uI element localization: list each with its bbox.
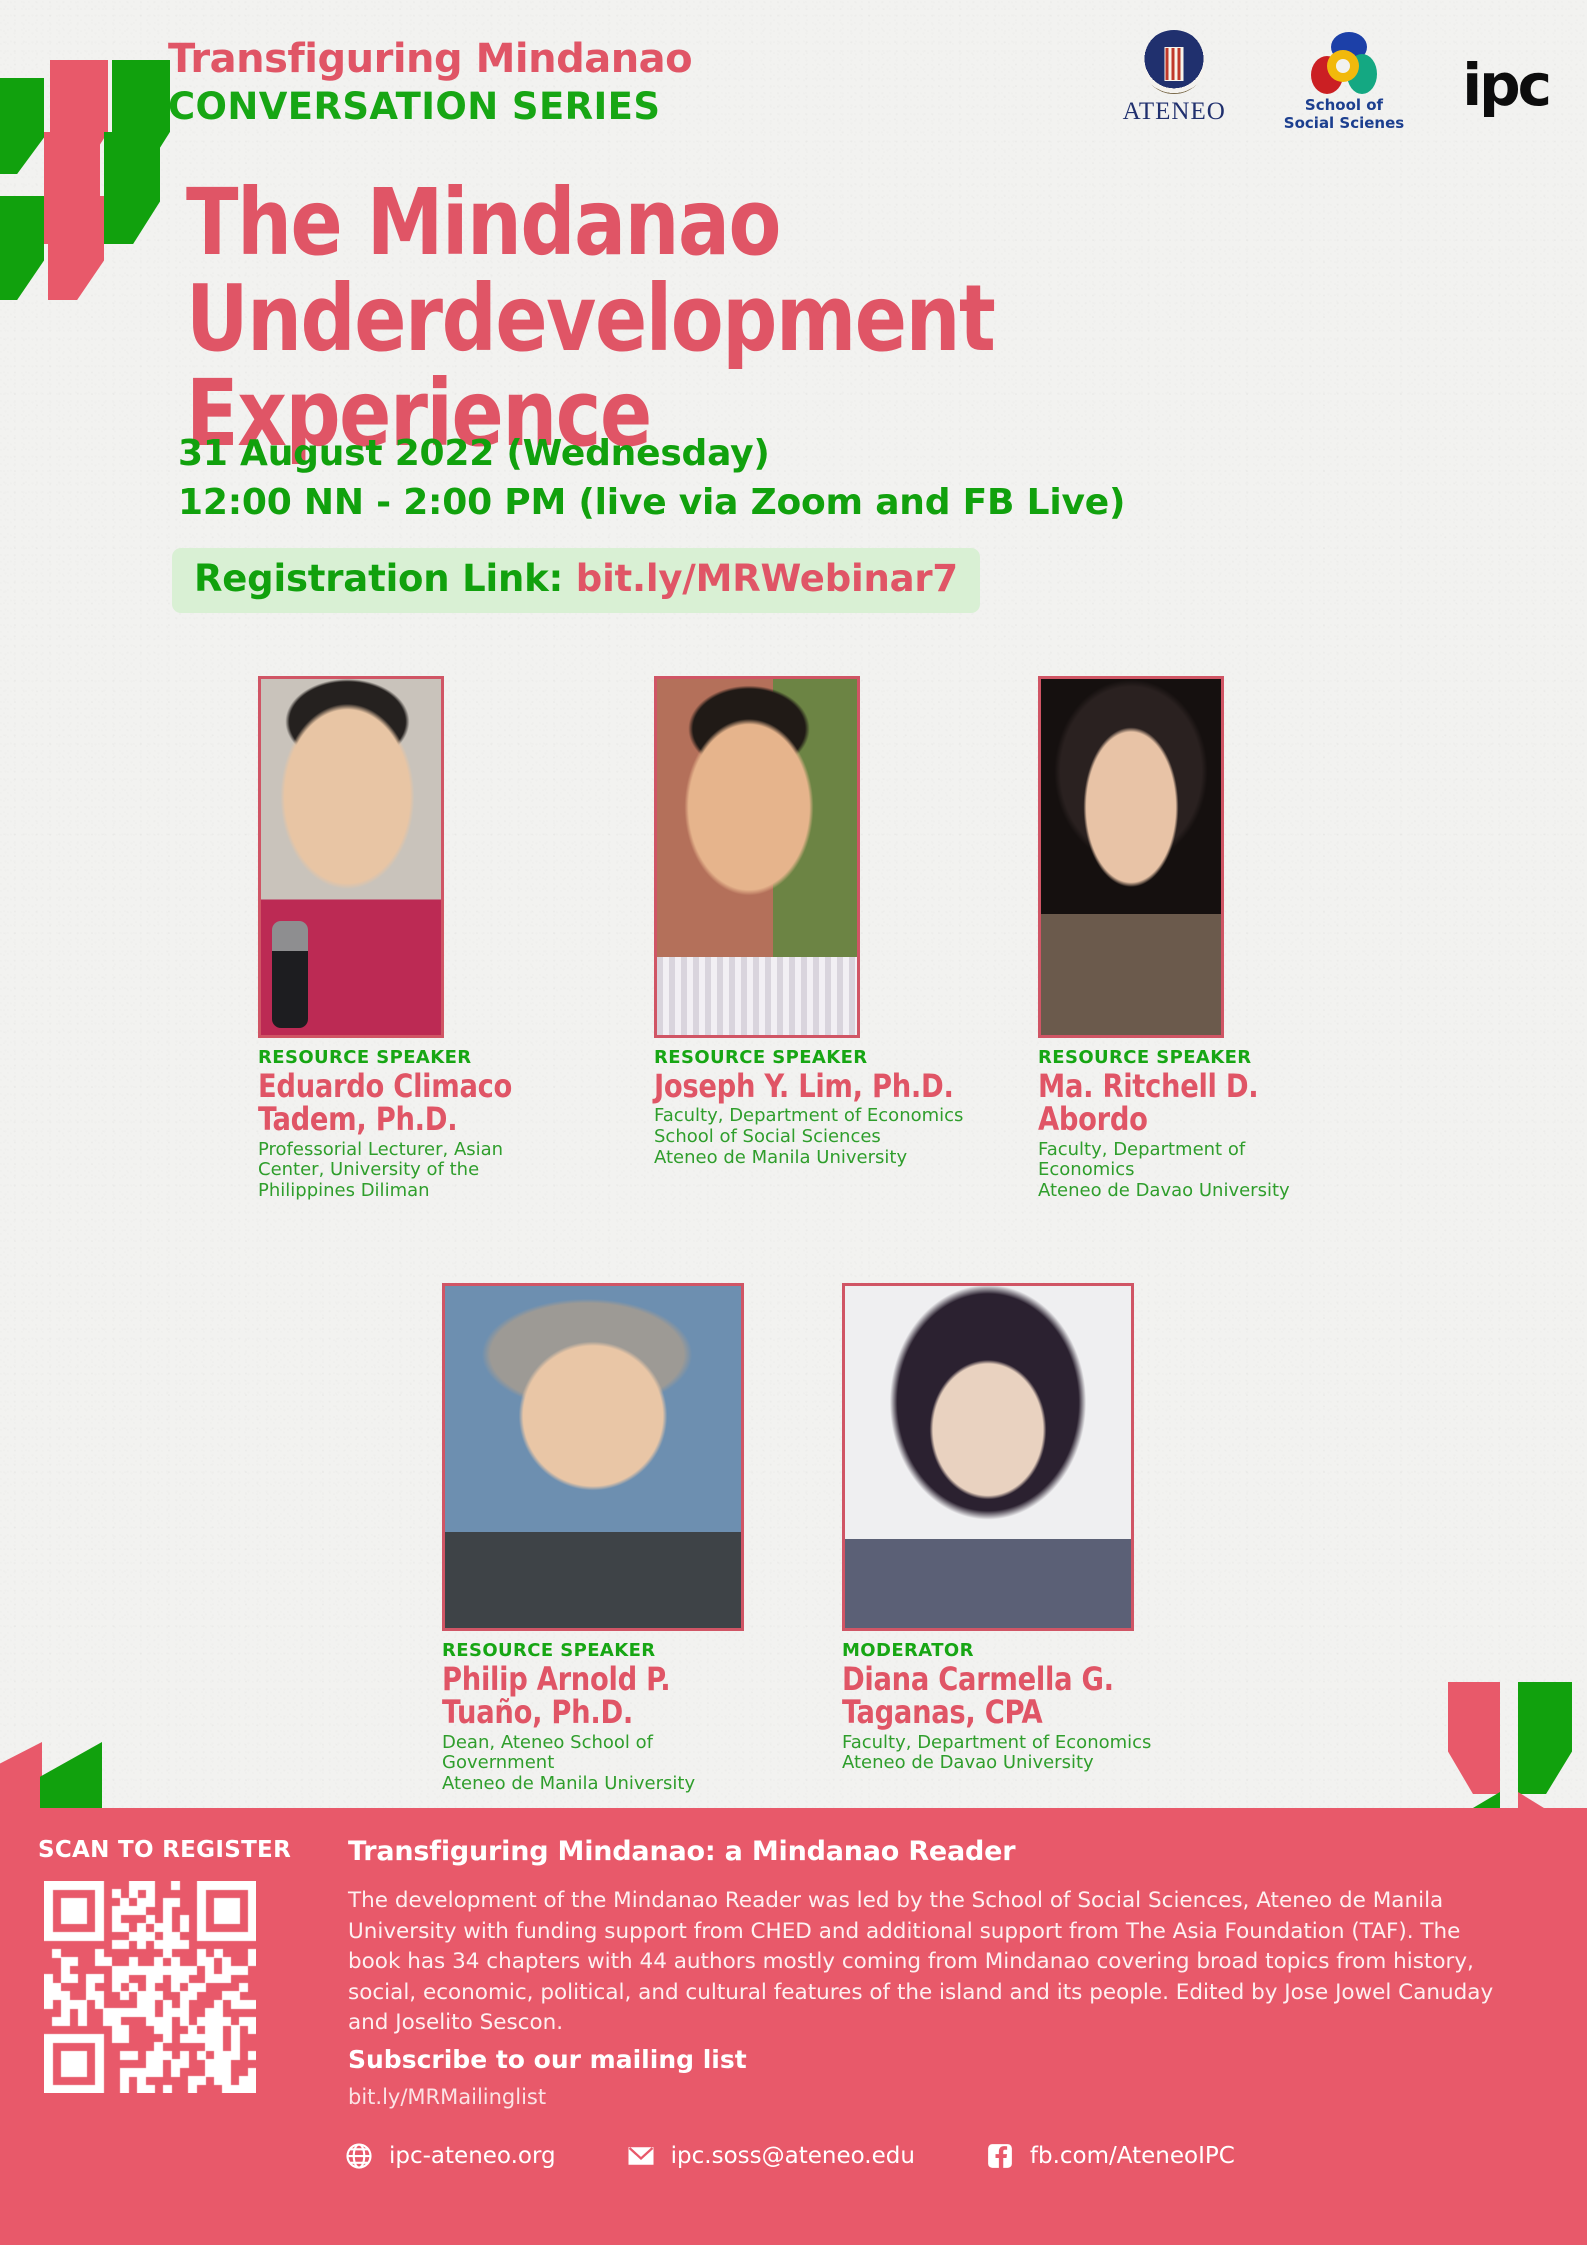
speaker-affiliation: Faculty, Department of Economics School … [654,1106,1014,1169]
title-line-1: The Mindanao [186,175,1432,271]
speaker-role: RESOURCE SPEAKER [654,1047,1014,1068]
speaker-name: Eduardo Climaco Tadem, Ph.D. [258,1070,600,1137]
soss-emblem-icon [1311,32,1377,94]
contact-website[interactable]: ipc-ateneo.org [344,2141,556,2171]
logo-row: ATENEO School of Social Scienes ipc [1123,30,1549,132]
ipc-logo: ipc [1462,30,1549,114]
website-text: ipc-ateneo.org [389,2143,556,2169]
event-date: 31 August 2022 (Wednesday) [178,433,770,474]
speaker-role: RESOURCE SPEAKER [442,1640,802,1661]
speaker-card-0: RESOURCE SPEAKER Eduardo Climaco Tadem, … [258,676,618,1202]
qr-code[interactable] [44,1881,256,2093]
email-text: ipc.soss@ateneo.edu [671,2143,915,2169]
moderator-affiliation: Faculty, Department of Economics Ateneo … [842,1733,1202,1775]
ipc-wordmark: ipc [1462,56,1549,114]
speaker-role: RESOURCE SPEAKER [258,1047,618,1068]
speaker-affiliation: Professorial Lecturer, Asian Center, Uni… [258,1140,618,1203]
moderator-name-line-1: Diana Carmella G. [842,1663,1184,1696]
speaker-name: Joseph Y. Lim, Ph.D. [654,1070,996,1103]
chevron-mark-green [0,196,44,300]
page-title: The Mindanao Underdevelopment Experience [186,175,1432,462]
registration-label: Registration Link: [194,557,563,600]
speaker-card-1: RESOURCE SPEAKER Joseph Y. Lim, Ph.D. Fa… [654,676,1014,1169]
series-name: Transfiguring Mindanao [168,38,692,81]
envelope-icon [626,2141,656,2171]
chevron-mark-red [1448,1682,1500,1794]
speaker-card-3: RESOURCE SPEAKER Philip Arnold P. Tuaño,… [442,1283,802,1795]
speaker-name: Philip Arnold P. Tuaño, Ph.D. [442,1663,784,1730]
speaker-name: Ma. Ritchell D. Abordo [1038,1070,1380,1137]
registration-url[interactable]: bit.ly/MRWebinar7 [576,557,958,600]
speaker-name-line-1: Philip Arnold P. [442,1663,784,1696]
speaker-card-4: MODERATOR Diana Carmella G. Taganas, CPA… [842,1283,1202,1774]
photo-joseph-lim [654,676,860,1038]
ateneo-seal-icon [1142,30,1206,94]
speaker-name-line-2: Abordo [1038,1103,1380,1136]
facebook-icon [985,2141,1015,2171]
series-subtitle: CONVERSATION SERIES [168,85,692,129]
chevron-mark-green [104,132,160,244]
speaker-name-line-1: Joseph Y. Lim, Ph.D. [654,1070,996,1103]
scan-to-register-label: SCAN TO REGISTER [38,1837,291,1863]
soss-line-1: School of [1284,97,1404,115]
contact-facebook[interactable]: fb.com/AteneoIPC [985,2141,1235,2171]
soss-line-2: Social Scienes [1284,115,1404,133]
header-kicker-block: Transfiguring Mindanao CONVERSATION SERI… [168,38,692,130]
chevron-mark-green [1518,1682,1572,1794]
moderator-role: MODERATOR [842,1640,1202,1661]
speaker-name-line-1: Eduardo Climaco [258,1070,600,1103]
speaker-card-2: RESOURCE SPEAKER Ma. Ritchell D. Abordo … [1038,676,1398,1202]
speaker-affiliation: Faculty, Department of Economics Ateneo … [1038,1140,1398,1203]
speaker-role: RESOURCE SPEAKER [1038,1047,1398,1068]
speaker-name-line-2: Tadem, Ph.D. [258,1103,600,1136]
soss-wordmark: School of Social Scienes [1284,97,1404,132]
subscribe-label: Subscribe to our mailing list [348,2045,747,2074]
speaker-affiliation: Dean, Ateneo School of Government Ateneo… [442,1733,802,1796]
ateneo-logo: ATENEO [1123,30,1226,126]
speaker-name-line-1: Ma. Ritchell D. [1038,1070,1380,1103]
ateneo-wordmark: ATENEO [1123,98,1226,126]
contact-email[interactable]: ipc.soss@ateneo.edu [626,2141,915,2171]
photo-philip-tuano [442,1283,744,1631]
book-title: Transfiguring Mindanao: a Mindanao Reade… [348,1836,1015,1867]
globe-icon [344,2141,374,2171]
photo-ritchell-abordo [1038,676,1224,1038]
event-time: 12:00 NN - 2:00 PM (live via Zoom and FB… [178,482,1125,523]
book-description: The development of the Mindanao Reader w… [348,1886,1496,2039]
photo-diana-taganas [842,1283,1134,1631]
photo-eduardo-tadem [258,676,444,1038]
contact-row: ipc-ateneo.org ipc.soss@ateneo.edu [344,2141,1235,2171]
speaker-name-line-2: Tuaño, Ph.D. [442,1696,784,1729]
subscribe-url[interactable]: bit.ly/MRMailinglist [348,2085,546,2109]
registration-link-band[interactable]: Registration Link: bit.ly/MRWebinar7 [172,548,980,613]
chevron-mark-red [48,196,104,300]
facebook-text: fb.com/AteneoIPC [1030,2143,1235,2169]
chevron-mark-green [0,78,44,174]
moderator-name-line-2: Taganas, CPA [842,1696,1184,1729]
school-of-social-sciences-logo: School of Social Scienes [1284,30,1404,132]
footer-band: SCAN TO REGISTER Transfiguring Mindanao:… [0,1808,1587,2245]
poster-canvas: Transfiguring Mindanao CONVERSATION SERI… [0,0,1587,2245]
moderator-name: Diana Carmella G. Taganas, CPA [842,1663,1184,1730]
